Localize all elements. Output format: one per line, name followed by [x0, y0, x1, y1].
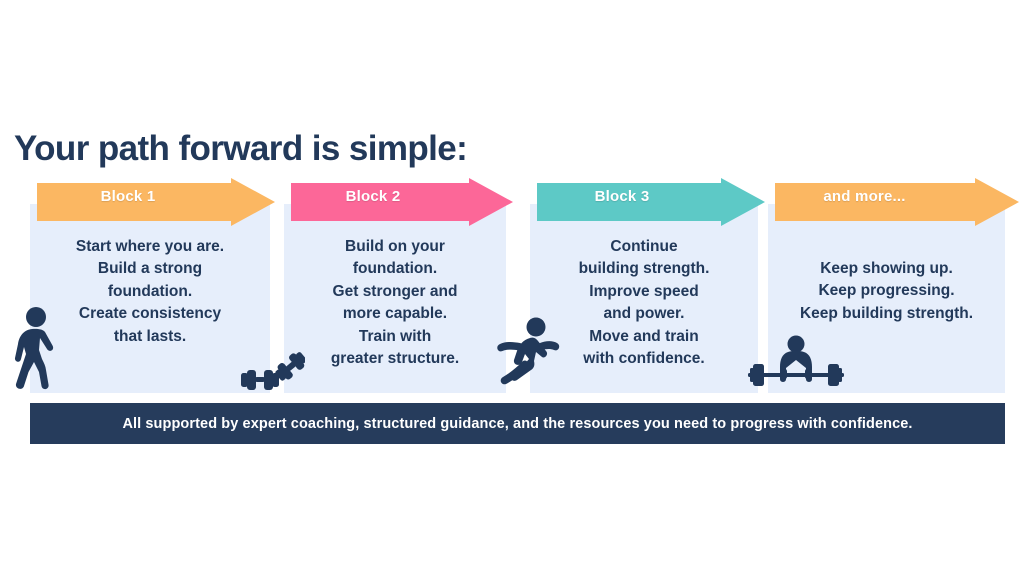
page-title: Your path forward is simple:: [14, 131, 467, 166]
block-body-text-2: Build on yourfoundation.Get stronger and…: [290, 236, 500, 370]
summary-banner: All supported by expert coaching, struct…: [30, 403, 1005, 444]
summary-banner-text: All supported by expert coaching, struct…: [122, 416, 912, 432]
dumbbells-icon: [241, 352, 305, 392]
block-arrow-label-1: Block 1: [30, 188, 226, 205]
walking-person-icon: [6, 306, 62, 390]
block-column-1: Block 1 Start where you are.Build a stro…: [30, 178, 270, 393]
block-arrow-label-2: Block 2: [284, 188, 462, 205]
weightlifter-icon: [748, 335, 844, 391]
block-column-2: Block 2 Build on yourfoundation.Get stro…: [284, 178, 506, 393]
infographic-slide: Your path forward is simple: Block 1 Sta…: [0, 0, 1024, 576]
block-arrow-label-4: and more...: [768, 188, 961, 205]
block-body-text-4: Keep showing up.Keep progressing.Keep bu…: [774, 258, 999, 325]
block-body-text-1: Start where you are.Build a strongfounda…: [36, 236, 264, 348]
running-person-icon: [492, 316, 566, 388]
block-body-text-3: Continuebuilding strength.Improve speeda…: [536, 236, 752, 370]
block-arrow-label-3: Block 3: [530, 188, 714, 205]
